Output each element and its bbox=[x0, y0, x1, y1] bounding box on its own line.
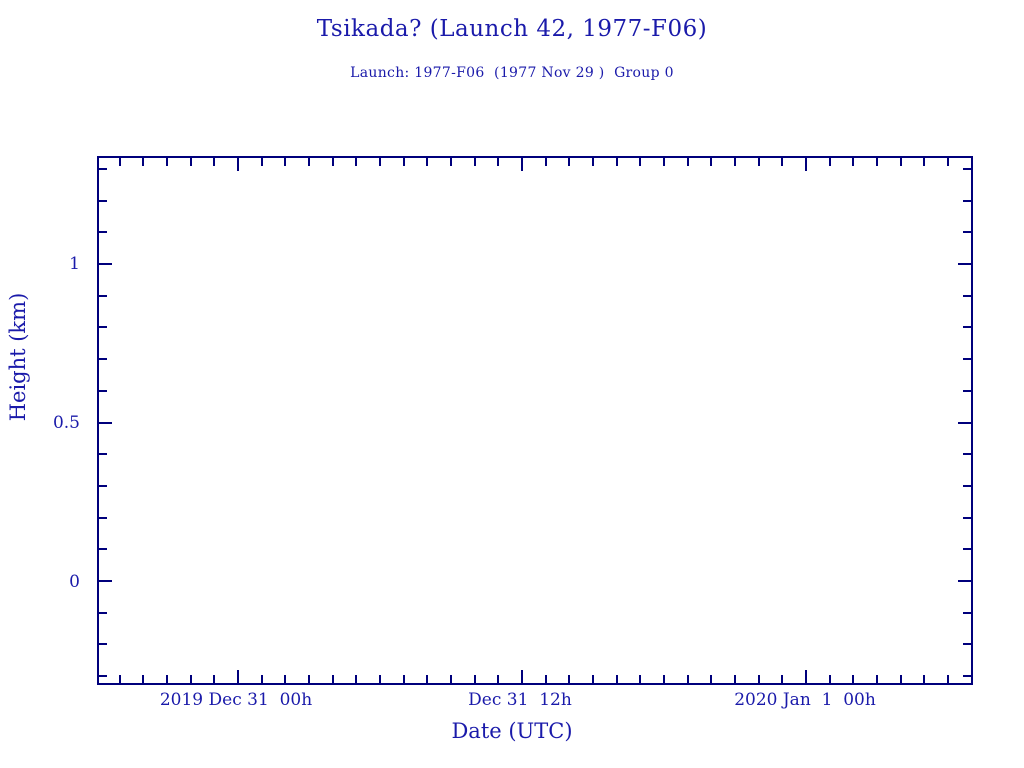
y-axis-tick-minor bbox=[99, 200, 107, 202]
x-axis-tick-minor bbox=[355, 158, 357, 166]
x-axis-tick-minor bbox=[734, 675, 736, 683]
x-axis-tick-minor bbox=[781, 675, 783, 683]
x-axis-tick-minor bbox=[308, 158, 310, 166]
x-axis-tick-minor bbox=[592, 158, 594, 166]
x-axis-tick-minor bbox=[166, 675, 168, 683]
x-axis-tick-major bbox=[521, 158, 523, 171]
x-axis-tick-minor bbox=[900, 158, 902, 166]
x-axis-tick-minor bbox=[497, 158, 499, 166]
y-axis-tick-minor bbox=[99, 517, 107, 519]
x-axis-tick-minor bbox=[616, 675, 618, 683]
x-axis-tick-minor bbox=[403, 675, 405, 683]
y-axis-tick-minor bbox=[963, 326, 971, 328]
y-axis-tick-minor bbox=[99, 231, 107, 233]
x-axis-tick-label: Dec 31 12h bbox=[370, 690, 670, 710]
x-axis-tick-minor bbox=[379, 675, 381, 683]
x-axis-tick-minor bbox=[852, 158, 854, 166]
x-axis-tick-minor bbox=[261, 675, 263, 683]
x-axis-tick-minor bbox=[947, 675, 949, 683]
x-axis-tick-minor bbox=[876, 158, 878, 166]
x-axis-tick-minor bbox=[332, 158, 334, 166]
x-axis-tick-minor bbox=[687, 675, 689, 683]
y-axis-tick-minor bbox=[963, 168, 971, 170]
x-axis-tick-minor bbox=[545, 675, 547, 683]
x-axis-tick-minor bbox=[474, 675, 476, 683]
x-axis-tick-label: 2020 Jan 1 00h bbox=[655, 690, 955, 710]
x-axis-tick-minor bbox=[900, 675, 902, 683]
y-axis-tick-minor bbox=[963, 390, 971, 392]
y-axis-tick-label: 1 bbox=[0, 254, 80, 274]
x-axis-tick-minor bbox=[119, 675, 121, 683]
x-axis-tick-minor bbox=[213, 158, 215, 166]
x-axis-tick-minor bbox=[261, 158, 263, 166]
x-axis-tick-minor bbox=[852, 675, 854, 683]
x-axis-tick-minor bbox=[450, 675, 452, 683]
y-axis-tick-major bbox=[99, 422, 112, 424]
x-axis-tick-minor bbox=[166, 158, 168, 166]
x-axis-tick-major bbox=[521, 670, 523, 683]
x-axis-tick-minor bbox=[355, 675, 357, 683]
page-title: Tsikada? (Launch 42, 1977-F06) bbox=[0, 16, 1024, 42]
x-axis-tick-minor bbox=[829, 158, 831, 166]
x-axis-tick-minor bbox=[426, 158, 428, 166]
y-axis-tick-minor bbox=[963, 485, 971, 487]
y-axis-tick-minor bbox=[99, 358, 107, 360]
x-axis-tick-label: 2019 Dec 31 00h bbox=[86, 690, 386, 710]
chart-page: Tsikada? (Launch 42, 1977-F06) Launch: 1… bbox=[0, 0, 1024, 768]
x-axis-tick-minor bbox=[568, 675, 570, 683]
y-axis-tick-minor bbox=[963, 295, 971, 297]
x-axis-tick-minor bbox=[971, 675, 973, 683]
y-axis-tick-minor bbox=[963, 612, 971, 614]
x-axis-tick-minor bbox=[142, 158, 144, 166]
y-axis-tick-minor bbox=[99, 295, 107, 297]
y-axis-tick-major bbox=[958, 263, 971, 265]
x-axis-tick-minor bbox=[923, 675, 925, 683]
x-axis-tick-minor bbox=[639, 158, 641, 166]
x-axis-tick-minor bbox=[734, 158, 736, 166]
y-axis-tick-major bbox=[99, 263, 112, 265]
x-axis-tick-minor bbox=[663, 675, 665, 683]
x-axis-tick-minor bbox=[663, 158, 665, 166]
x-axis-tick-minor bbox=[592, 675, 594, 683]
y-axis-tick-minor bbox=[99, 453, 107, 455]
y-axis-tick-major bbox=[958, 580, 971, 582]
x-axis-tick-minor bbox=[639, 675, 641, 683]
y-axis-tick-minor bbox=[99, 326, 107, 328]
x-axis-tick-minor bbox=[947, 158, 949, 166]
y-axis-tick-minor bbox=[963, 231, 971, 233]
x-axis-tick-minor bbox=[284, 675, 286, 683]
x-axis-tick-major bbox=[237, 158, 239, 171]
y-axis-tick-minor bbox=[99, 643, 107, 645]
y-axis-tick-minor bbox=[963, 643, 971, 645]
y-axis-title: Height (km) bbox=[6, 277, 30, 437]
x-axis-tick-minor bbox=[923, 158, 925, 166]
x-axis-tick-minor bbox=[474, 158, 476, 166]
y-axis-tick-minor bbox=[99, 485, 107, 487]
y-axis-tick-minor bbox=[963, 548, 971, 550]
x-axis-tick-major bbox=[237, 670, 239, 683]
x-axis-tick-major bbox=[805, 158, 807, 171]
y-axis-tick-label: 0 bbox=[0, 572, 80, 592]
x-axis-title: Date (UTC) bbox=[0, 719, 1024, 743]
x-axis-tick-minor bbox=[687, 158, 689, 166]
x-axis-tick-minor bbox=[450, 158, 452, 166]
x-axis-tick-minor bbox=[616, 158, 618, 166]
x-axis-tick-minor bbox=[190, 158, 192, 166]
x-axis-tick-minor bbox=[829, 675, 831, 683]
x-axis-tick-minor bbox=[497, 675, 499, 683]
x-axis-tick-minor bbox=[971, 158, 973, 166]
y-axis-tick-minor bbox=[99, 612, 107, 614]
x-axis-tick-minor bbox=[426, 675, 428, 683]
y-axis-tick-minor bbox=[99, 168, 107, 170]
x-axis-tick-minor bbox=[876, 675, 878, 683]
x-axis-tick-minor bbox=[142, 675, 144, 683]
y-axis-tick-minor bbox=[99, 390, 107, 392]
x-axis-tick-minor bbox=[190, 675, 192, 683]
x-axis-tick-minor bbox=[568, 158, 570, 166]
x-axis-tick-minor bbox=[781, 158, 783, 166]
y-axis-tick-minor bbox=[99, 548, 107, 550]
x-axis-tick-minor bbox=[332, 675, 334, 683]
y-axis-tick-minor bbox=[99, 675, 107, 677]
y-axis-tick-minor bbox=[963, 453, 971, 455]
x-axis-tick-minor bbox=[284, 158, 286, 166]
x-axis-tick-minor bbox=[379, 158, 381, 166]
x-axis-tick-minor bbox=[758, 158, 760, 166]
x-axis-tick-minor bbox=[710, 675, 712, 683]
y-axis-tick-minor bbox=[963, 200, 971, 202]
chart-subtitle: Launch: 1977-F06 (1977 Nov 29 ) Group 0 bbox=[0, 65, 1024, 81]
x-axis-tick-minor bbox=[119, 158, 121, 166]
plot-area bbox=[97, 156, 973, 685]
x-axis-tick-minor bbox=[758, 675, 760, 683]
x-axis-tick-minor bbox=[545, 158, 547, 166]
x-axis-tick-minor bbox=[710, 158, 712, 166]
y-axis-tick-minor bbox=[963, 358, 971, 360]
y-axis-tick-minor bbox=[963, 517, 971, 519]
y-axis-tick-major bbox=[958, 422, 971, 424]
x-axis-tick-minor bbox=[403, 158, 405, 166]
x-axis-tick-minor bbox=[308, 675, 310, 683]
y-axis-tick-major bbox=[99, 580, 112, 582]
x-axis-tick-minor bbox=[213, 675, 215, 683]
x-axis-tick-major bbox=[805, 670, 807, 683]
